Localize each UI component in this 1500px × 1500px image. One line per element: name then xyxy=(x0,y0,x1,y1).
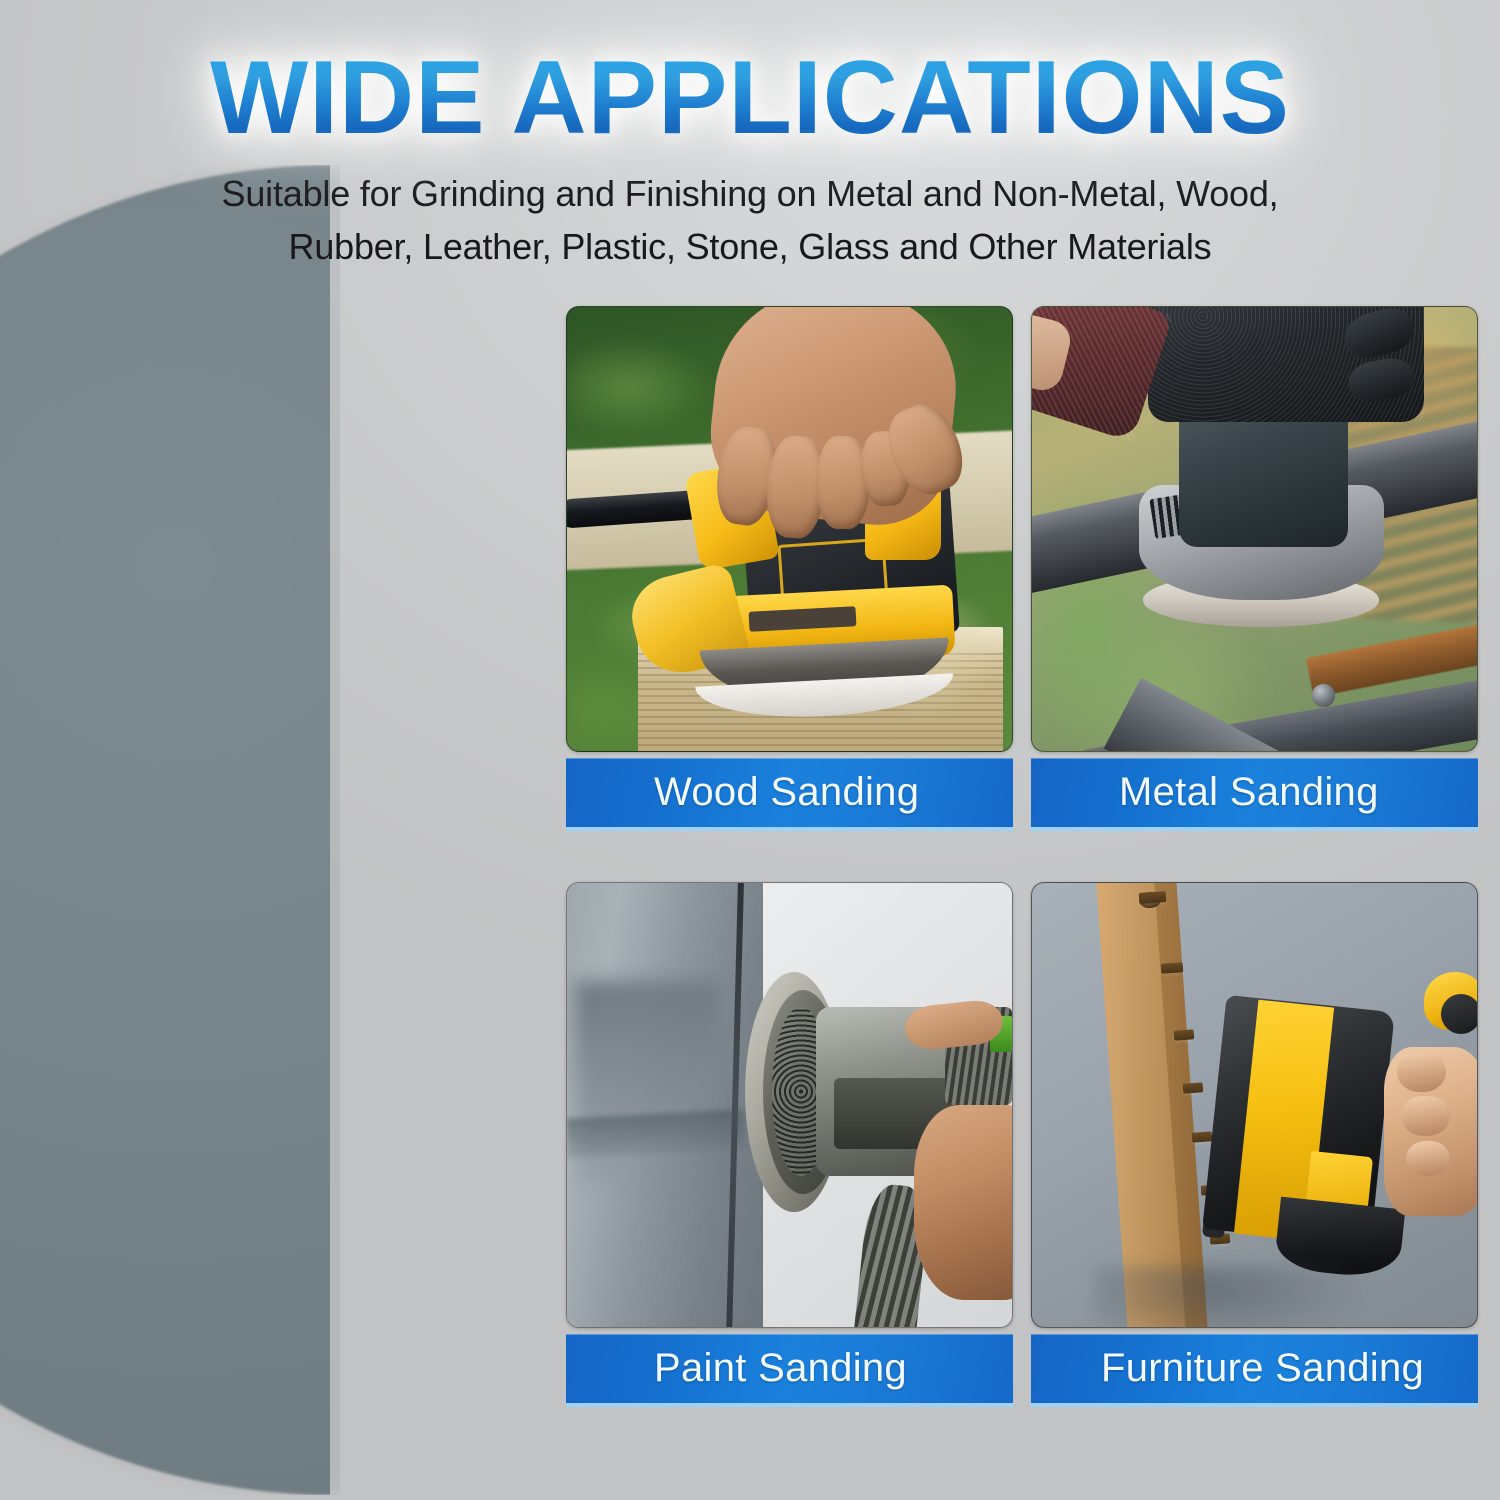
caption-metal-sanding: Metal Sanding xyxy=(1031,758,1478,831)
mortise-slot xyxy=(1161,962,1184,973)
mortise-slot xyxy=(1192,1131,1213,1142)
floor-shadow xyxy=(1094,1265,1370,1328)
wide-applications-banner: WIDE APPLICATIONS Suitable for Grinding … xyxy=(0,0,1500,1500)
gallery-item-metal-sanding[interactable]: Metal Sanding xyxy=(1031,306,1478,831)
caption-wood-sanding: Wood Sanding xyxy=(566,758,1013,831)
mortise-slot xyxy=(1183,1082,1204,1093)
gallery-item-furniture-sanding[interactable]: Furniture Sanding xyxy=(1031,882,1478,1407)
operator-hand xyxy=(914,1105,1013,1300)
sander-knob-center xyxy=(1441,994,1478,1034)
subtitle-line-2: Rubber, Leather, Plastic, Stone, Glass a… xyxy=(0,220,1500,273)
wood-sanding-photo xyxy=(566,306,1013,752)
caption-paint-sanding: Paint Sanding xyxy=(566,1334,1013,1407)
knuckle xyxy=(1397,1052,1446,1092)
mortise-slot xyxy=(1174,1029,1195,1040)
gallery-item-wood-sanding[interactable]: Wood Sanding xyxy=(566,306,1013,831)
gallery-item-paint-sanding[interactable]: Paint Sanding xyxy=(566,882,1013,1407)
bolt xyxy=(1312,684,1334,706)
paint-sanding-photo xyxy=(566,882,1013,1328)
subtitle-line-1: Suitable for Grinding and Finishing on M… xyxy=(0,167,1500,220)
knuckle xyxy=(1406,1141,1451,1177)
furniture-sanding-photo xyxy=(1031,882,1478,1328)
header: WIDE APPLICATIONS Suitable for Grinding … xyxy=(0,0,1500,274)
mortise-slot xyxy=(1138,891,1165,903)
page-title: WIDE APPLICATIONS xyxy=(210,44,1290,153)
metal-sanding-photo xyxy=(1031,306,1478,752)
caption-furniture-sanding: Furniture Sanding xyxy=(1031,1334,1478,1407)
page-subtitle: Suitable for Grinding and Finishing on M… xyxy=(0,167,1500,274)
knuckle xyxy=(1401,1096,1450,1136)
application-gallery: Wood Sanding xyxy=(566,306,1478,1407)
